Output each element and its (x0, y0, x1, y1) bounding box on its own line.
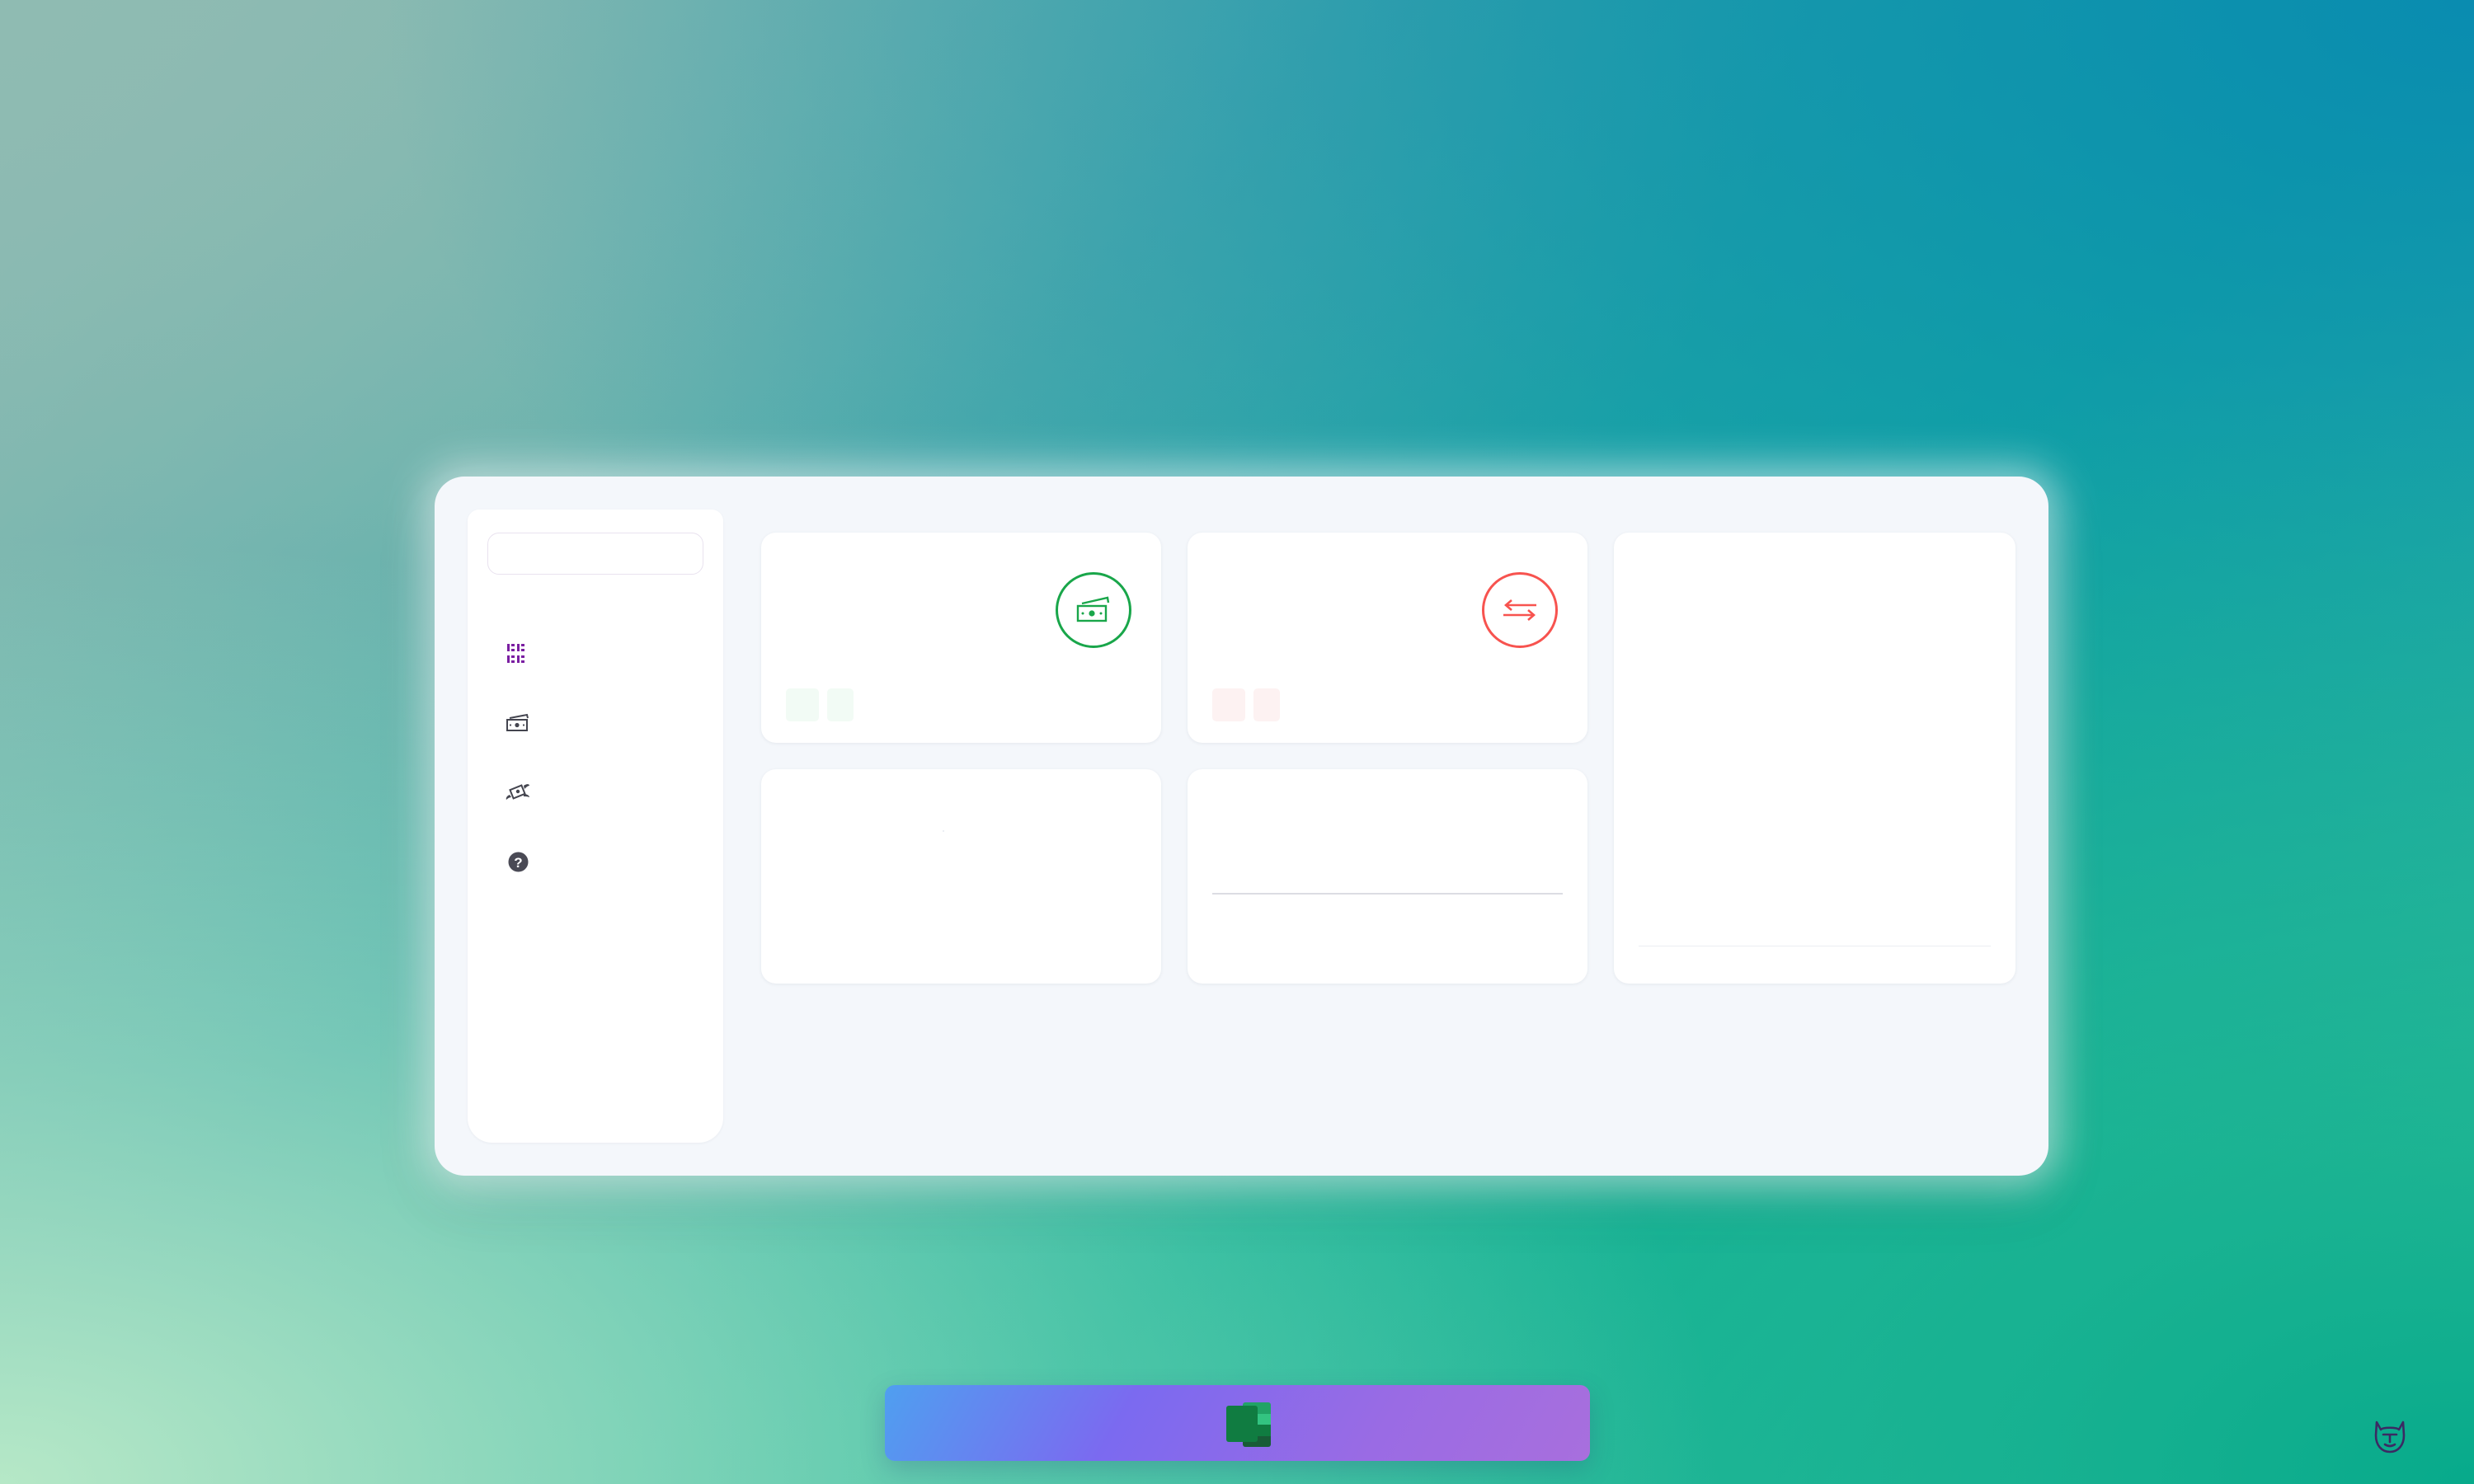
brand-logo (2370, 1417, 2426, 1461)
flying-money-icon (506, 780, 530, 805)
banknote-icon (506, 711, 530, 735)
banknote-circle-icon (1056, 572, 1131, 648)
svg-text:?: ? (514, 855, 522, 871)
budget-vs-actual-chart[interactable] (1188, 769, 1587, 984)
chart-plot-area (1212, 799, 1563, 895)
left-to-spend (943, 830, 1137, 832)
app-window-mockup: ? (435, 477, 2048, 1176)
sidebar-nav: ? (468, 619, 723, 896)
income-card[interactable] (761, 533, 1161, 743)
sidebar-item-overview[interactable] (468, 619, 723, 688)
main-content (723, 510, 2015, 1143)
sidebar: ? (468, 510, 723, 1143)
excel-badge-letter (1226, 1406, 1258, 1442)
hero-banner (0, 91, 2474, 125)
instant-download-button[interactable] (885, 1385, 1590, 1461)
budget-selector[interactable] (487, 533, 703, 575)
remaining-card[interactable] (761, 769, 1161, 984)
spending-variance-chip (1253, 688, 1280, 721)
spending-expected-chip (1212, 688, 1245, 721)
bobcat-logo-icon (2370, 1417, 2410, 1461)
income-variance-chip (827, 688, 854, 721)
breakdown-footer (1639, 946, 1991, 984)
left-to-budget (786, 830, 943, 832)
sidebar-item-help[interactable]: ? (468, 827, 723, 896)
transfer-arrows-icon (1482, 572, 1558, 648)
excel-icon (1226, 1399, 1271, 1447)
sidebar-item-income[interactable] (468, 688, 723, 758)
grid-binary-icon (506, 641, 530, 666)
spending-card[interactable] (1188, 533, 1587, 743)
spending-breakdown-card (1614, 533, 2015, 984)
sidebar-item-spending[interactable] (468, 758, 723, 827)
income-expected-chip (786, 688, 819, 721)
question-circle-icon: ? (506, 849, 530, 874)
